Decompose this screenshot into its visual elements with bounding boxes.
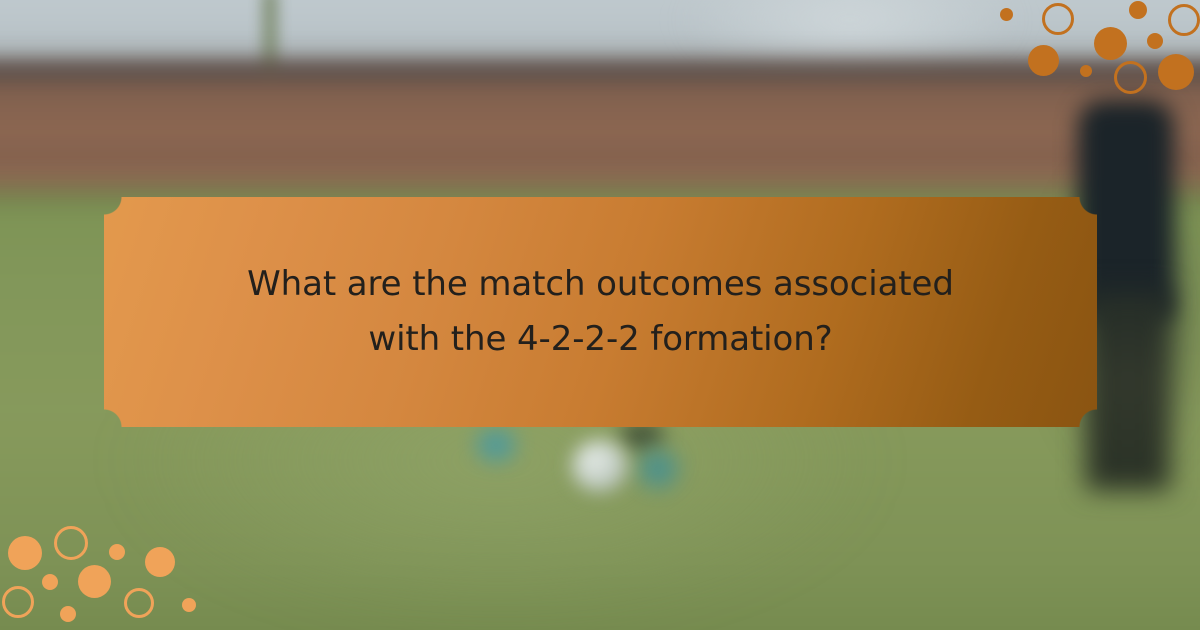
background-player-legs xyxy=(1086,290,1170,490)
background-wall-seam-top xyxy=(0,66,1200,76)
background-wall-seam-bottom xyxy=(0,150,1200,158)
background-soccer-ball xyxy=(572,440,628,492)
question-banner: What are the match outcomes associated w… xyxy=(104,197,1097,427)
question-card-image: What are the match outcomes associated w… xyxy=(0,0,1200,630)
background-player-marker-left xyxy=(476,428,516,462)
background-player-marker-right xyxy=(638,450,678,488)
question-text: What are the match outcomes associated w… xyxy=(211,257,991,367)
